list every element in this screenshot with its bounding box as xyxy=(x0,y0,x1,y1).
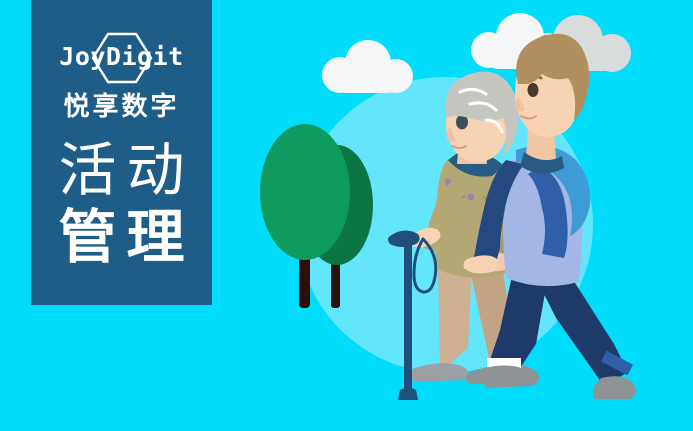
brand-panel: JoyDigit 悦享数字 活动 管理 xyxy=(31,0,212,305)
headline-line-1: 活动 xyxy=(31,140,212,203)
logo-wordmark: JoyDigit xyxy=(47,44,197,69)
headline-line-2: 管理 xyxy=(31,207,212,270)
poster-canvas: JoyDigit 悦享数字 活动 管理 xyxy=(0,0,693,431)
company-name-cn: 悦享数字 xyxy=(31,93,212,119)
logo-mark: JoyDigit xyxy=(47,32,197,84)
logo-block: JoyDigit 悦享数字 xyxy=(31,32,212,119)
page-title: 活动 管理 xyxy=(31,140,212,269)
youth-eye xyxy=(528,83,539,97)
